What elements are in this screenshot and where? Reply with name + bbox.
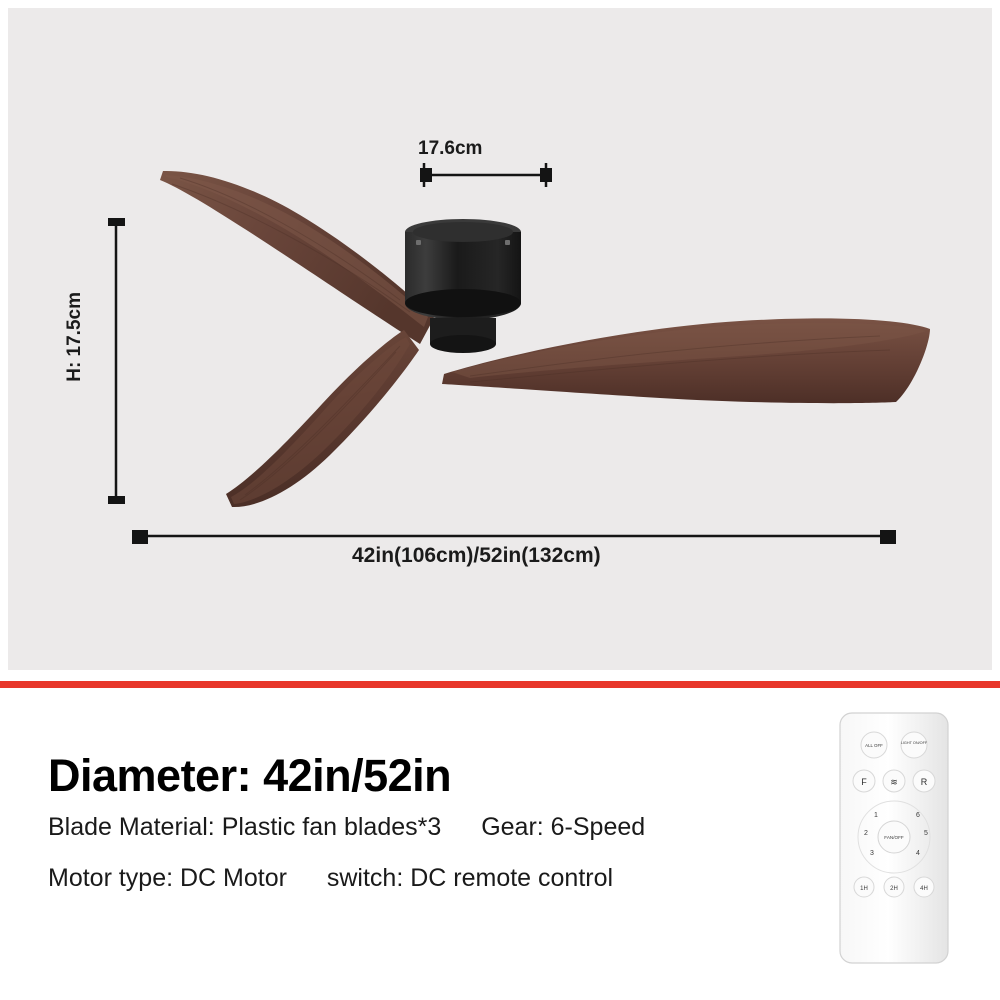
switch-text: switch: DC remote control: [327, 864, 613, 892]
remote-speed-3-label: 3: [870, 850, 874, 857]
remote-all-off-label: ALL OFF: [865, 743, 883, 748]
gear-text: Gear: 6-Speed: [481, 813, 645, 841]
width-dimension-label: 17.6cm: [418, 138, 482, 160]
product-diagram-panel: 17.6cm H: 17.5cm 42in(106cm)/52in(132cm): [0, 0, 1000, 678]
height-dimension-label: H: 17.5cm: [64, 292, 86, 382]
fan-blade-upper-left: [160, 171, 434, 344]
fan-blade-lower-left-highlight: [231, 337, 410, 504]
remote-speed-5-label: 5: [924, 830, 928, 837]
remote-timer-1h-label: 1H: [860, 886, 868, 892]
red-divider: [0, 681, 1000, 688]
motor-screw-right: [505, 240, 510, 245]
motor-bottom-cap: [405, 289, 521, 317]
height-dim-cap-bottom: [108, 496, 125, 504]
width-dimension-line: [424, 163, 546, 187]
remote-light-label: LIGHT ON/OFF: [901, 741, 928, 745]
motor-hub-bottom: [430, 335, 496, 353]
width-dim-cap-left: [420, 168, 432, 182]
spec-panel: Diameter: 42in/52in Blade Material: Plas…: [0, 688, 1000, 1000]
motor-type-text: Motor type: DC Motor: [48, 864, 287, 892]
diameter-dim-cap-right: [880, 530, 896, 544]
fan-diagram-svg: [0, 0, 1000, 678]
remote-forward-label: F: [861, 777, 867, 787]
remote-speed-2-label: 2: [864, 830, 868, 837]
remote-timer-4h-label: 4H: [920, 886, 928, 892]
remote-speed-6-label: 6: [916, 812, 920, 819]
spec-title: Diameter: 42in/52in: [48, 750, 451, 802]
remote-reverse-label: R: [921, 777, 928, 787]
spec-line-blade-gear: Blade Material: Plastic fan blades*3 Gea…: [48, 813, 645, 842]
remote-light-button: [901, 732, 927, 758]
remote-control: ALL OFF LIGHT ON/OFF F ≋ R FAN/OFF 1 2 3…: [838, 711, 950, 966]
remote-control-svg: ALL OFF LIGHT ON/OFF F ≋ R FAN/OFF 1 2 3…: [838, 711, 950, 966]
diameter-dim-cap-left: [132, 530, 148, 544]
spec-line-motor-switch: Motor type: DC Motor switch: DC remote c…: [48, 864, 613, 893]
remote-timer-2h-label: 2H: [890, 886, 898, 892]
remote-fan-off-label: FAN/OFF: [884, 835, 904, 840]
remote-speed-4-label: 4: [916, 850, 920, 857]
height-dim-cap-top: [108, 218, 125, 226]
blade-material-text: Blade Material: Plastic fan blades*3: [48, 813, 441, 841]
motor-top-inner: [413, 222, 513, 242]
width-dim-cap-right: [540, 168, 552, 182]
remote-speed-1-label: 1: [874, 812, 878, 819]
remote-fan-icon: ≋: [890, 777, 898, 787]
motor-screw-left: [416, 240, 421, 245]
diameter-dimension-label: 42in(106cm)/52in(132cm): [352, 544, 601, 568]
